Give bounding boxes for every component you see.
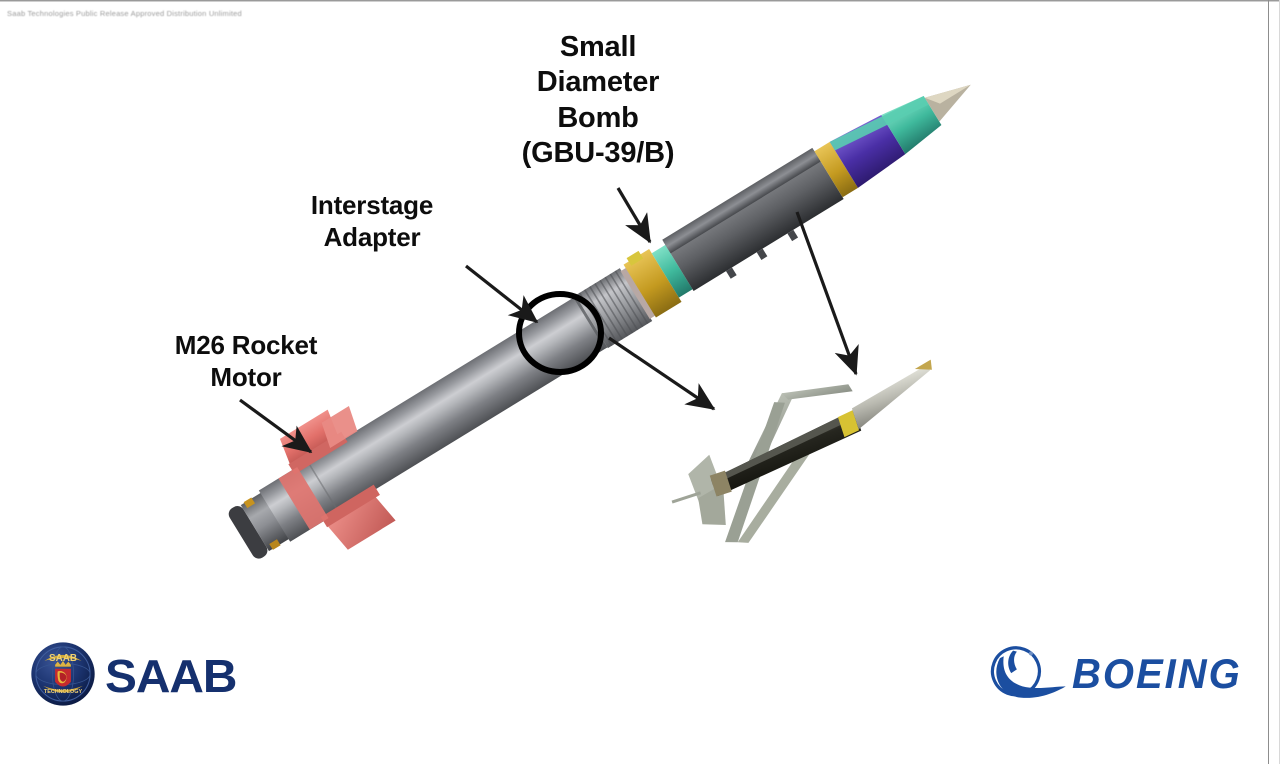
deployed-sdb-tail-fins: [662, 453, 736, 538]
arrow-to-sdb: [618, 188, 650, 242]
saab-emblem-bottom-text: TECHNOLOGY: [44, 689, 83, 695]
deployed-sdb-nose: [846, 365, 940, 430]
label-line: Small: [488, 30, 708, 65]
saab-logo: SAAB TECHNOLOGY SAAB: [30, 641, 240, 709]
label-line: Motor: [140, 362, 352, 394]
arrow-sdb-to-deployed: [797, 212, 856, 374]
saab-emblem-icon: SAAB TECHNOLOGY: [30, 641, 96, 707]
label-small-diameter-bomb: Small Diameter Bomb (GBU-39/B): [488, 30, 708, 172]
label-line: Bomb: [488, 101, 708, 136]
slide-canvas: Saab Technologies Public Release Approve…: [0, 0, 1280, 764]
label-line: (GBU-39/B): [488, 136, 708, 171]
tail-fin-side: [672, 491, 701, 503]
label-line: Adapter: [268, 222, 476, 254]
boeing-swoosh-icon: [975, 645, 1070, 707]
arrow-interstage-to-deployed: [609, 338, 714, 409]
label-line: Interstage: [268, 190, 476, 222]
label-line: Diameter: [488, 65, 708, 100]
label-interstage-adapter: Interstage Adapter: [268, 190, 476, 253]
boeing-wordmark: BOEING: [1072, 651, 1242, 698]
boeing-logo: BOEING: [975, 645, 1255, 707]
label-m26-rocket-motor: M26 Rocket Motor: [140, 330, 352, 393]
arrow-to-m26: [240, 400, 311, 452]
saab-wordmark: SAAB: [105, 649, 236, 703]
m26-rocket-motor: [208, 268, 626, 594]
wing-upper-right: [782, 372, 853, 412]
deployed-small-diameter-bomb: [651, 346, 968, 561]
arrow-to-interstage: [466, 266, 537, 322]
label-line: M26 Rocket: [140, 330, 352, 362]
